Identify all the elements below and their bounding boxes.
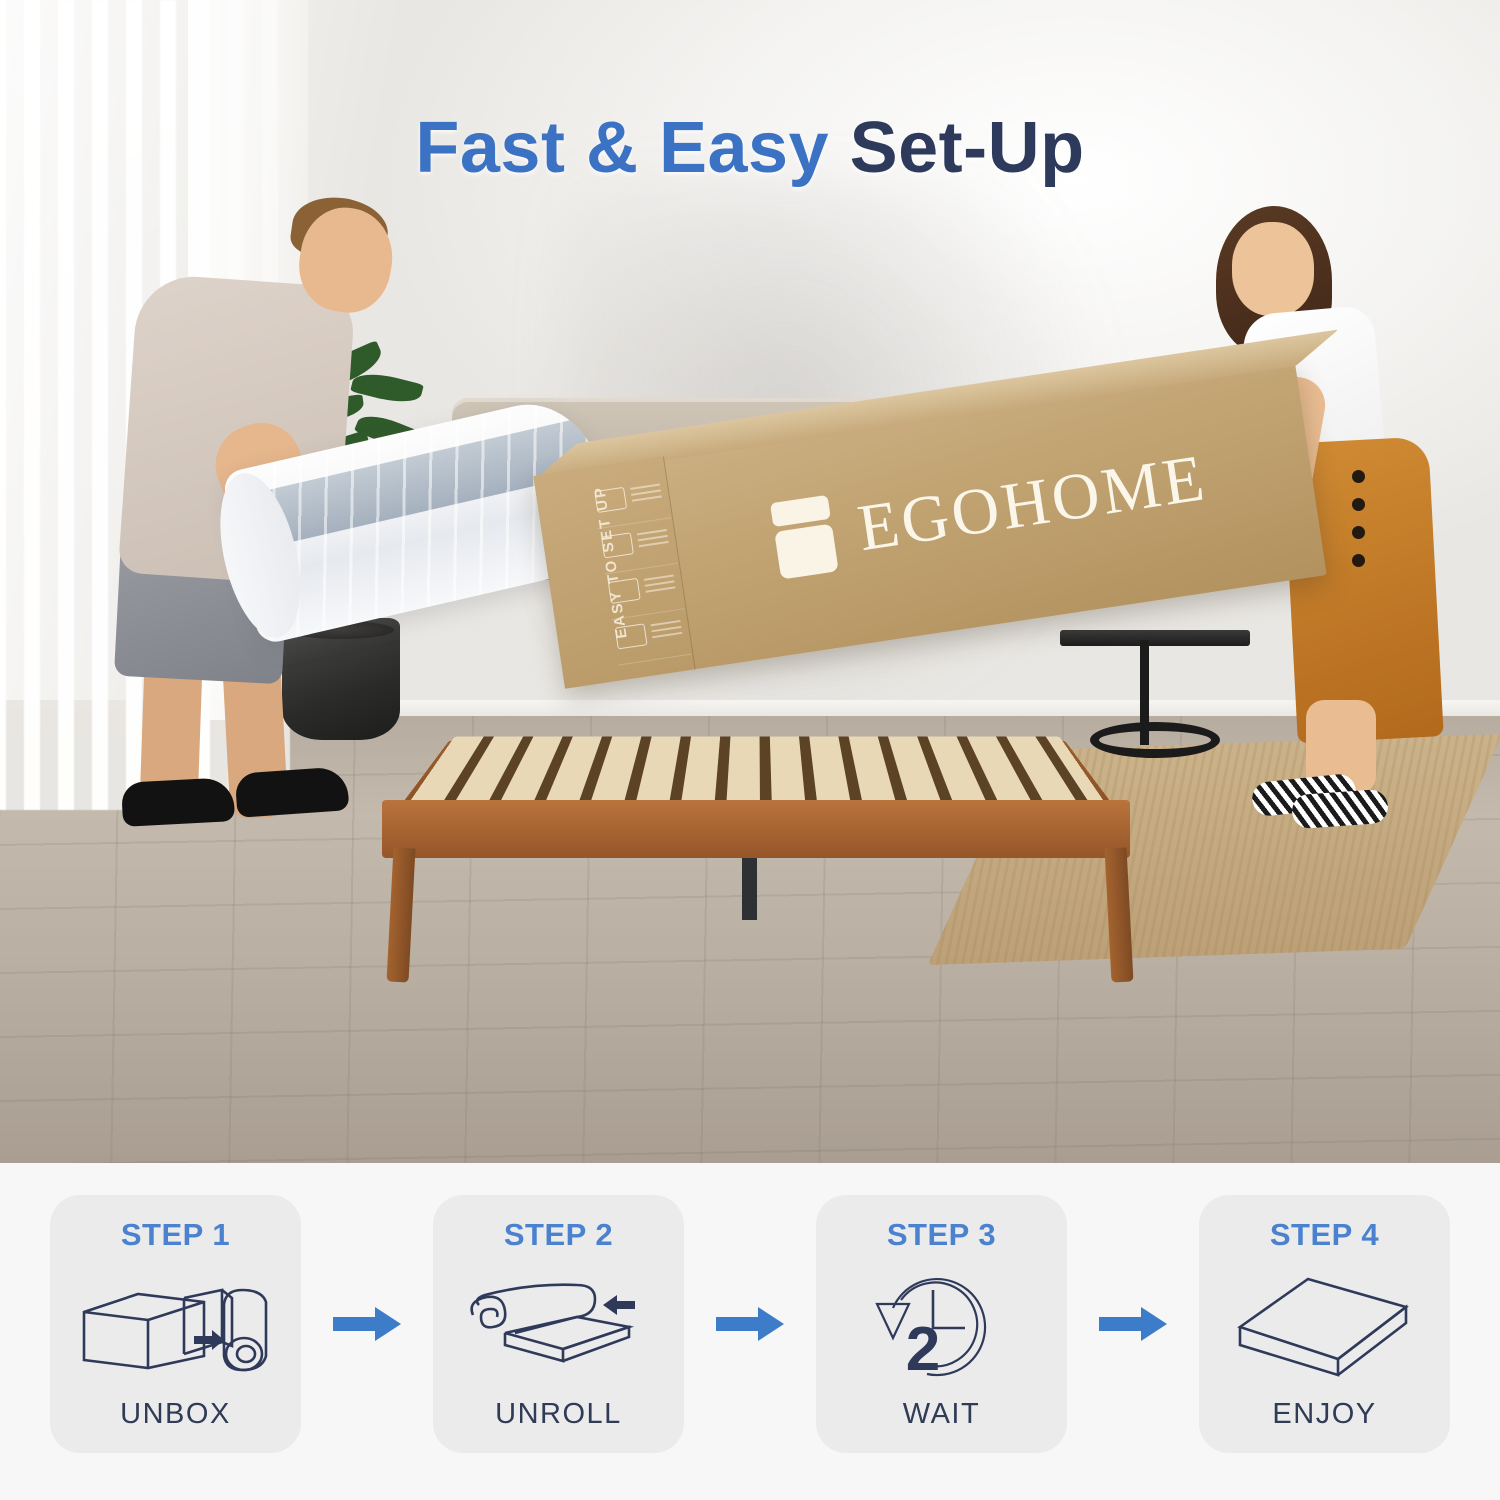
right-arrow-icon <box>714 1304 786 1344</box>
bed-center-support <box>742 858 757 920</box>
unrolling-mattress-icon <box>459 1271 659 1381</box>
trouser-button <box>1352 526 1365 539</box>
step-1-label: UNBOX <box>120 1398 231 1453</box>
trouser-button <box>1352 554 1365 567</box>
step-card-4[interactable]: STEP 4 ENJOY <box>1199 1195 1450 1453</box>
logo-pillow-shape <box>770 495 831 527</box>
connector-2 <box>684 1304 816 1344</box>
flat-mattress-icon <box>1230 1271 1420 1381</box>
step-1-art <box>50 1253 301 1398</box>
connector-1 <box>301 1304 433 1344</box>
setup-steps-panel: STEP 1 <box>0 1163 1500 1500</box>
side-table-top <box>1060 630 1250 646</box>
right-arrow-icon <box>331 1304 403 1344</box>
mini-text-lines <box>637 529 669 551</box>
wait-hours-number: 2 <box>905 1315 939 1384</box>
mini-bed-icon <box>615 623 648 649</box>
step-3-art: 2 <box>816 1253 1067 1398</box>
egohome-brand-lockup: EGOHOME <box>770 439 1212 579</box>
box-mini-step-diagrams <box>591 473 691 666</box>
right-arrow-icon <box>1097 1304 1169 1344</box>
step-2-label: UNROLL <box>495 1398 622 1453</box>
woman-head <box>1232 222 1314 316</box>
step-2-title: STEP 2 <box>504 1217 613 1253</box>
step-4-label: ENJOY <box>1272 1398 1376 1453</box>
trouser-button <box>1352 498 1365 511</box>
step-3-title: STEP 3 <box>887 1217 996 1253</box>
woman-sandal-right <box>1291 789 1389 830</box>
man-shoe-right <box>235 766 350 818</box>
logo-mattress-shape <box>774 524 838 580</box>
mini-mattress-icon <box>608 578 641 604</box>
bed-front-rail <box>382 800 1130 858</box>
bed-slats <box>404 736 1110 810</box>
mini-roll-icon <box>601 532 634 558</box>
step-4-title: STEP 4 <box>1270 1217 1379 1253</box>
inner-arrow-left-icon <box>603 1295 635 1315</box>
title-primary: Fast & Easy <box>415 108 829 188</box>
clock-with-2-icon: 2 <box>867 1266 1017 1386</box>
trouser-button <box>1352 470 1365 483</box>
steps-row: STEP 1 <box>0 1195 1500 1453</box>
side-table-base <box>1090 722 1220 758</box>
mini-text-lines <box>644 574 676 596</box>
box-mini-step <box>611 609 691 665</box>
product-infographic: EASY TO SET UP <box>0 0 1500 1500</box>
step-4-art <box>1199 1253 1450 1398</box>
connector-3 <box>1067 1304 1199 1344</box>
egohome-wordmark: EGOHOME <box>853 440 1211 567</box>
hero-lifestyle-photo: EASY TO SET UP <box>0 0 1500 1163</box>
page-title: Fast & Easy Set-Up <box>0 112 1500 184</box>
egohome-logo-icon <box>770 495 839 580</box>
step-card-1[interactable]: STEP 1 <box>50 1195 301 1453</box>
title-secondary: Set-Up <box>850 108 1085 188</box>
step-1-title: STEP 1 <box>121 1217 230 1253</box>
man-shoe-left <box>121 777 235 827</box>
step-3-label: WAIT <box>903 1398 980 1453</box>
step-card-3[interactable]: STEP 3 2 WAIT <box>816 1195 1067 1453</box>
box-and-roll-icon <box>76 1272 276 1380</box>
step-card-2[interactable]: STEP 2 UNROLL <box>433 1195 684 1453</box>
mini-text-lines <box>630 483 662 505</box>
step-2-art <box>433 1253 684 1398</box>
mini-box-icon <box>594 487 627 513</box>
mini-text-lines <box>651 620 683 642</box>
